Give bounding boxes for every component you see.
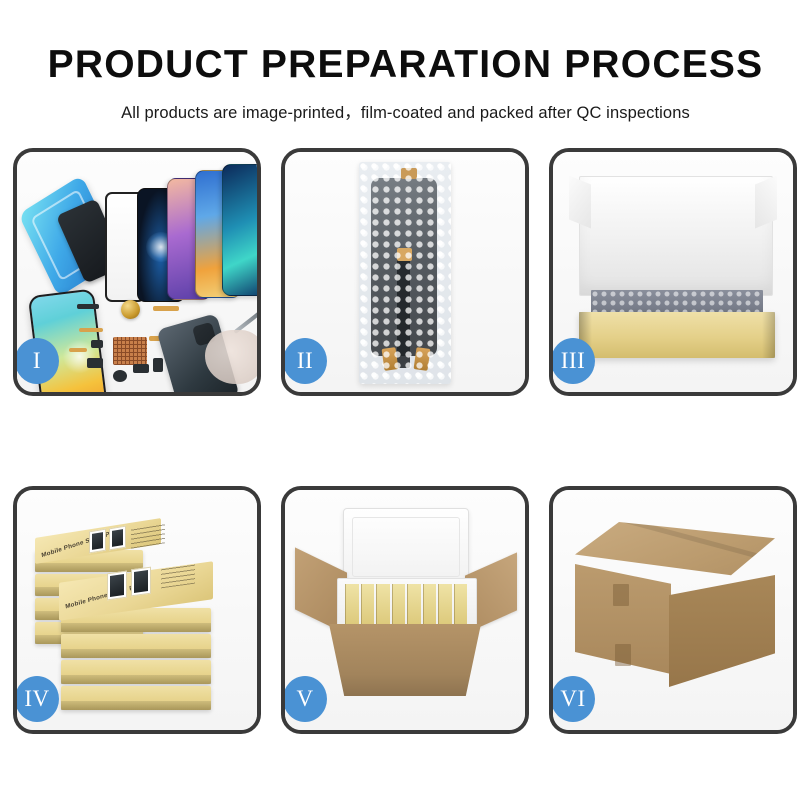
gold-box-stack-icon: Mobile Phone Spare Parts Mobile Phone Sp… xyxy=(31,516,249,712)
page-title: PRODUCT PREPARATION PROCESS xyxy=(0,44,811,87)
box-thumbnail-front-2 xyxy=(131,567,151,597)
box-thumbnail-front-1 xyxy=(107,571,127,601)
box-thumbnail-back-2 xyxy=(109,526,126,551)
teal-phone-icon xyxy=(222,164,261,296)
foam-lid-icon xyxy=(343,508,469,586)
carton-tape-lower xyxy=(615,644,631,666)
speaker-module-icon xyxy=(77,304,99,309)
process-step-1[interactable]: I xyxy=(13,148,261,396)
sealed-carton-icon xyxy=(575,522,775,686)
stacked-box-front-2 xyxy=(61,634,211,658)
process-step-5[interactable]: V xyxy=(281,486,529,734)
carton-right-face xyxy=(669,575,775,687)
stacked-box-front-3 xyxy=(61,660,211,684)
power-flex-icon xyxy=(69,348,87,352)
small-chip-icon xyxy=(91,340,103,348)
step-1-badge: I xyxy=(15,338,59,384)
vibrator-icon xyxy=(113,370,127,382)
lid-left-flap-icon xyxy=(569,176,591,229)
process-step-2[interactable]: II xyxy=(281,148,529,396)
sensor-icon xyxy=(153,358,163,372)
page-subtitle: All products are image-printed，film-coat… xyxy=(0,99,811,123)
top-connector-tab-icon xyxy=(401,168,417,179)
process-step-6[interactable]: VI xyxy=(549,486,797,734)
antenna-flex-icon xyxy=(153,306,179,311)
hand-icon xyxy=(205,330,261,384)
step-3-badge: III xyxy=(551,338,595,384)
camera-module-icon xyxy=(87,358,103,368)
copper-shield-grid-icon xyxy=(113,337,147,365)
step-2-badge: II xyxy=(283,338,327,384)
wrapped-flex-cable-icon xyxy=(397,258,410,368)
process-steps-grid: I II III xyxy=(13,148,798,734)
step-4-badge: IV xyxy=(15,676,59,722)
step-5-badge: V xyxy=(283,676,327,722)
process-step-3[interactable]: III xyxy=(549,148,797,396)
step-6-badge: VI xyxy=(551,676,595,722)
middle-connector-tab-icon xyxy=(397,248,412,261)
gold-box-base-icon xyxy=(579,312,775,358)
page-header: PRODUCT PREPARATION PROCESS All products… xyxy=(0,0,811,123)
bubble-wrap-bag-icon xyxy=(359,162,451,384)
carton-tape-upper xyxy=(613,584,629,606)
carton-top-seam xyxy=(613,515,757,558)
carton-body-icon xyxy=(329,624,481,696)
box-spec-lines-back xyxy=(131,521,165,548)
process-step-4[interactable]: Mobile Phone Spare Parts Mobile Phone Sp… xyxy=(13,486,261,734)
white-box-lid-icon xyxy=(579,176,773,296)
bottom-left-connector-icon xyxy=(382,347,399,371)
box-thumbnail-back-1 xyxy=(89,529,106,554)
flex-cable-icon xyxy=(79,328,103,332)
stacked-box-front-4 xyxy=(61,686,211,710)
lid-right-flap-icon xyxy=(755,176,777,229)
connector-icon xyxy=(133,364,149,373)
taptic-engine-icon xyxy=(121,300,140,319)
gold-boxes-in-carton-icon xyxy=(345,584,467,624)
bottom-right-connector-icon xyxy=(414,347,431,371)
